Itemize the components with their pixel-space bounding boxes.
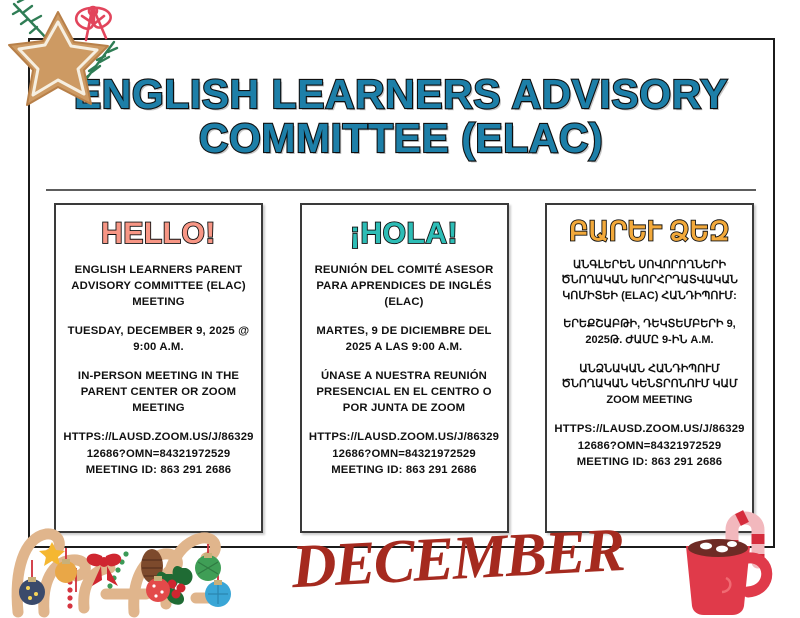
panel-spanish: ¡HOLA! REUNIÓN DEL COMITÉ ASESOR PARA AP… (300, 203, 509, 533)
language-panels-container: HELLO! ENGLISH LEARNERS PARENT ADVISORY … (54, 203, 754, 533)
title-line-1: ENGLISH LEARNERS ADVISORY (46, 72, 756, 116)
location-english: IN-PERSON MEETING IN THE PARENT CENTER O… (62, 368, 255, 416)
title-line-2: COMMITTEE (ELAC) (46, 116, 756, 160)
zoom-link-armenian[interactable]: HTTPS://LAUSD.ZOOM.US/J/8632912686?OMN=8… (553, 421, 746, 454)
page-title: ENGLISH LEARNERS ADVISORY COMMITTEE (ELA… (46, 72, 756, 161)
greeting-english: HELLO! (62, 217, 255, 250)
panel-english: HELLO! ENGLISH LEARNERS PARENT ADVISORY … (54, 203, 263, 533)
december-wordart: DECEMBER (290, 524, 534, 616)
location-spanish: ÚNASE A NUESTRA REUNIÓN PRESENCIAL EN EL… (308, 368, 501, 416)
greeting-armenian: ԲԱՐԵՒ ՁԵԶ (553, 217, 746, 246)
greeting-spanish: ¡HOLA! (308, 217, 501, 250)
datetime-english: TUESDAY, DECEMBER 9, 2025 @ 9:00 A.M. (62, 323, 255, 355)
meeting-id-english: MEETING ID: 863 291 2686 (62, 462, 255, 478)
body-english: ENGLISH LEARNERS PARENT ADVISORY COMMITT… (62, 262, 255, 310)
zoom-link-spanish[interactable]: HTTPS://LAUSD.ZOOM.US/J/8632912686?OMN=8… (308, 429, 501, 462)
body-armenian: ԱՆԳԼԵՐԵՆ ՍՈՎՈՐՈՂՆԵՐԻ ԾՆՈՂԱԿԱՆ ԽՈՐՀՐԴԱՏՎԱ… (553, 258, 746, 305)
datetime-armenian: ԵՐԵՔՇԱԲԹԻ, ԴԵԿՏԵՄԲԵՐԻ 9, 2025Թ. ԺԱՄԸ 9-Ի… (553, 317, 746, 348)
panel-armenian: ԲԱՐԵՒ ՁԵԶ ԱՆԳԼԵՐԵՆ ՍՈՎՈՐՈՂՆԵՐԻ ԾՆՈՂԱԿԱՆ … (545, 203, 754, 533)
zoom-link-english[interactable]: HTTPS://LAUSD.ZOOM.US/J/8632912686?OMN=8… (62, 429, 255, 462)
location-armenian: ԱՆՁՆԱԿԱՆ ՀԱՆԴԻՊՈՒՄ ԾՆՈՂԱԿԱՆ ԿԵՆՏՐՈՆՈՒՄ Կ… (553, 362, 746, 409)
datetime-spanish: MARTES, 9 DE DICIEMBRE DEL 2025 A LAS 9:… (308, 323, 501, 355)
body-spanish: REUNIÓN DEL COMITÉ ASESOR PARA APRENDICE… (308, 262, 501, 310)
meeting-id-armenian: MEETING ID: 863 291 2686 (553, 454, 746, 470)
title-divider (46, 189, 756, 191)
meeting-id-spanish: MEETING ID: 863 291 2686 (308, 462, 501, 478)
